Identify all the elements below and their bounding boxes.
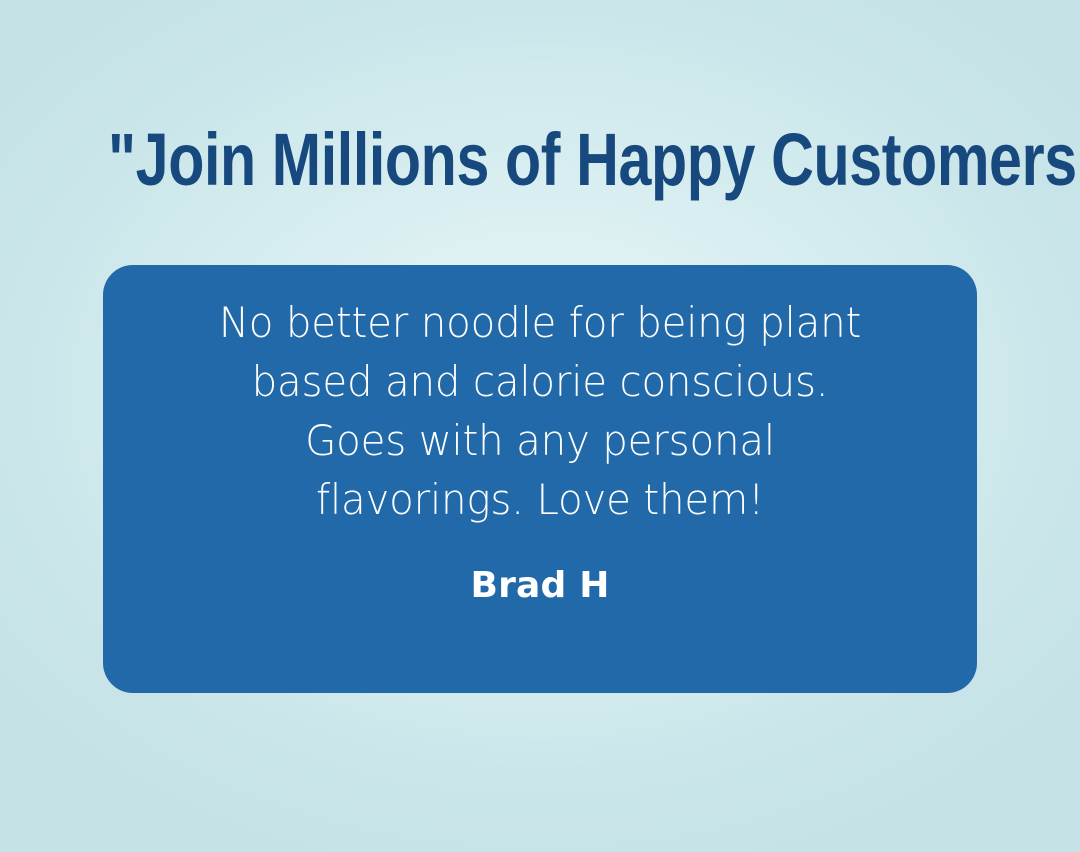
testimonial-graphic: "Join Millions of Happy Customers" No be… (0, 0, 1080, 852)
testimonial-quote-line: Goes with any personal (176, 411, 904, 470)
page-title: "Join Millions of Happy Customers" (108, 118, 972, 202)
testimonial-card: No better noodle for being plant based a… (103, 265, 977, 693)
testimonial-quote-line: flavorings. Love them! (176, 470, 904, 529)
testimonial-quote-line: No better noodle for being plant (176, 293, 904, 352)
testimonial-quote-line: based and calorie conscious. (176, 352, 904, 411)
testimonial-author: Brad H (161, 565, 919, 607)
